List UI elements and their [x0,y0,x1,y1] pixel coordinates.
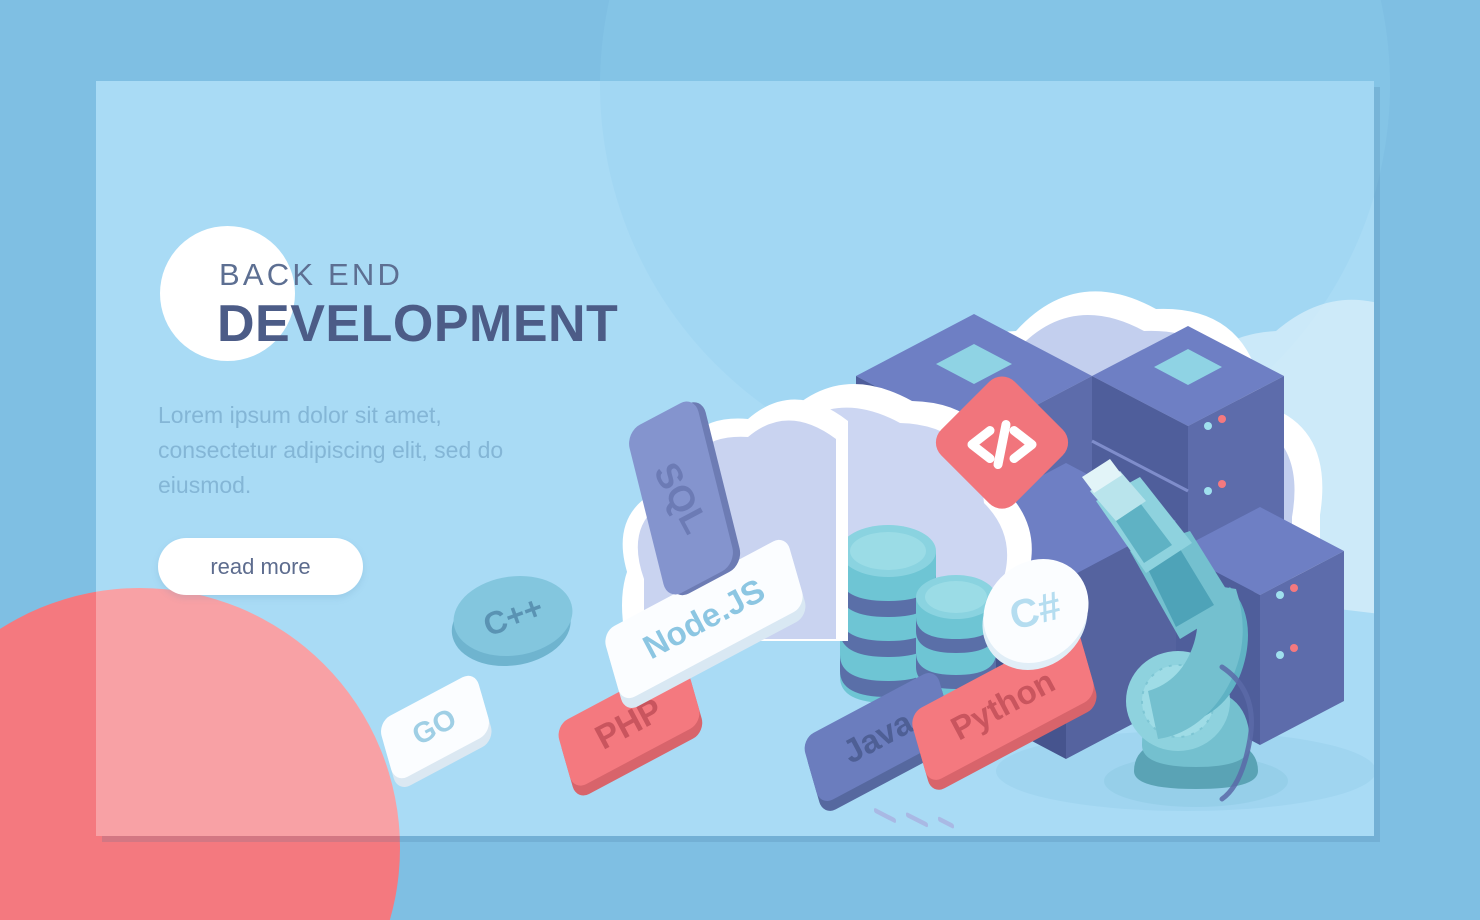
hero-kicker: BACK END [219,257,403,293]
badge-cpp-label: C++ [478,588,547,643]
sql-card-label: SQL [645,455,717,540]
hero-body: Lorem ipsum dolor sit amet, consectetur … [158,398,558,503]
hero-card: GO PHP Node.JS Java Python C++ C# SQL BA… [96,81,1374,836]
read-more-button[interactable]: read more [158,538,363,595]
hero-banner: GO PHP Node.JS Java Python C++ C# SQL BA… [0,0,1480,920]
page-title: DEVELOPMENT [217,294,618,354]
badge-csharp-label: C# [1006,583,1067,639]
badge-go-label: GO [407,702,462,752]
